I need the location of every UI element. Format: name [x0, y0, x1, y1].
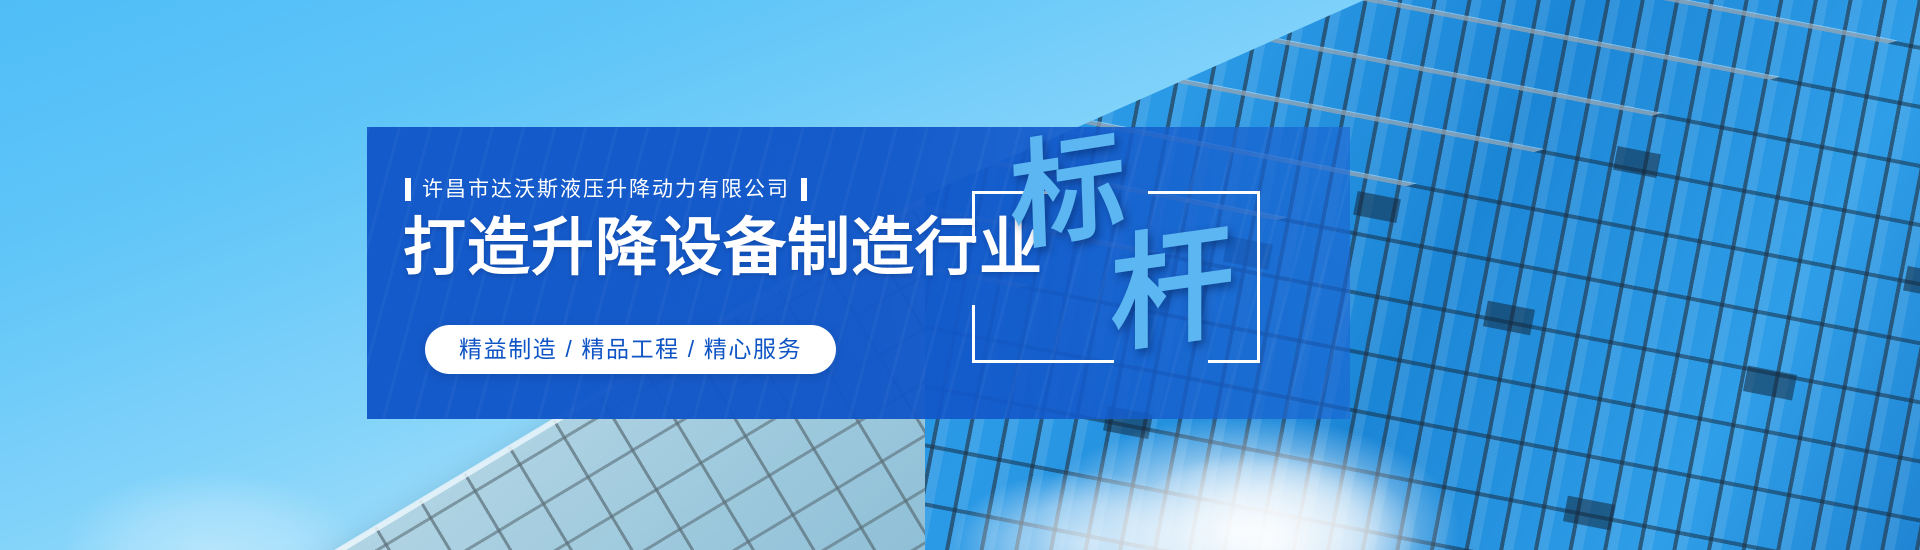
window-accent [1613, 146, 1661, 178]
window-accent [1743, 365, 1797, 400]
window-accent [1483, 301, 1535, 336]
company-name: 许昌市达沃斯液压升降动力有限公司 [422, 179, 790, 200]
tagline-pill: 精益制造 / 精品工程 / 精心服务 [425, 325, 836, 374]
window-accent [1903, 266, 1920, 299]
tick-mark-right-icon [801, 178, 807, 201]
page-title: 打造升降设备制造行业 [403, 217, 1043, 280]
company-name-row: 许昌市达沃斯液压升降动力有限公司 [405, 178, 807, 201]
hero-banner: 许昌市达沃斯液压升降动力有限公司 打造升降设备制造行业 精益制造 / 精品工程 … [0, 0, 1920, 550]
tick-mark-left-icon [405, 178, 411, 201]
tagline-text: 精益制造 / 精品工程 / 精心服务 [459, 338, 802, 361]
window-accent [1563, 496, 1615, 531]
panel-content: 许昌市达沃斯液压升降动力有限公司 打造升降设备制造行业 精益制造 / 精品工程 … [405, 127, 1105, 419]
